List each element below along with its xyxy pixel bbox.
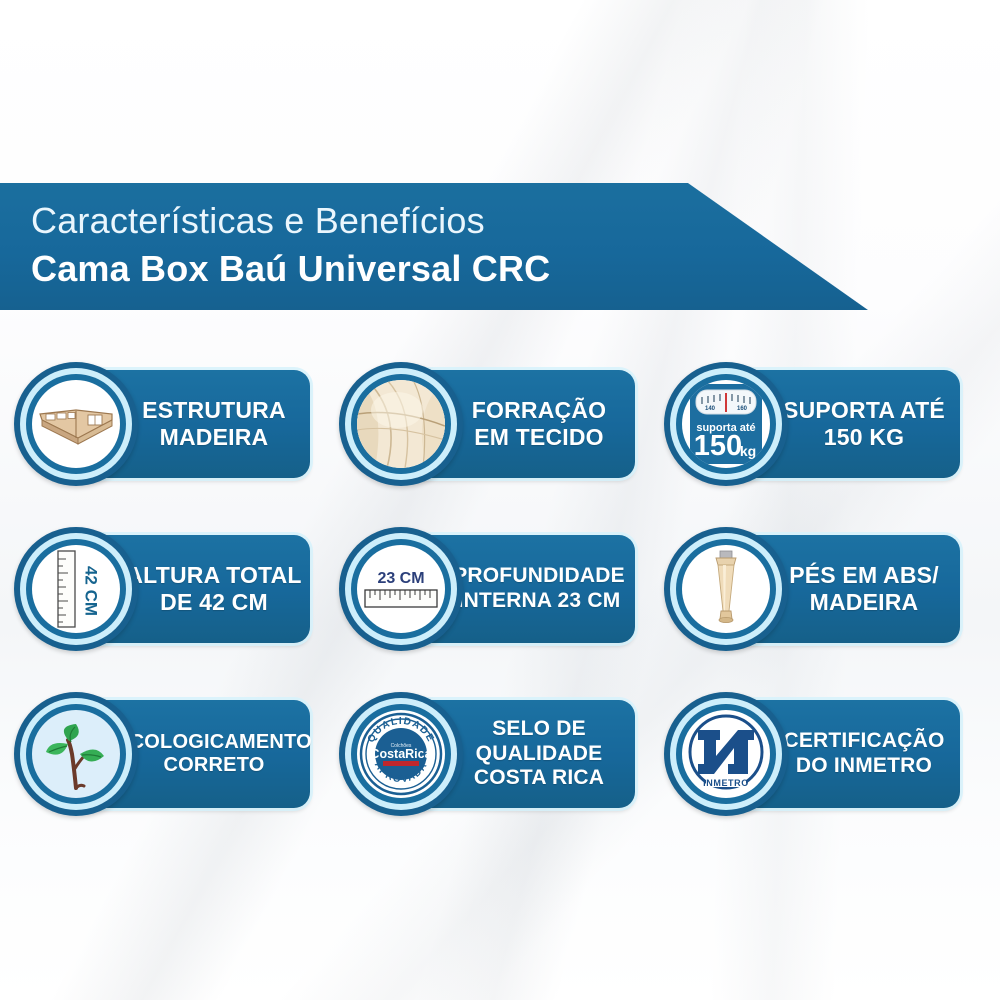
scale-tick-left: 140 bbox=[705, 406, 716, 412]
badge-ring-light: 42 CM bbox=[20, 533, 132, 645]
feature-badge: 42 CM bbox=[14, 527, 138, 651]
feature-badge bbox=[14, 692, 138, 816]
feature-card-label: SUPORTA ATÉ 150 KG bbox=[783, 397, 945, 451]
feature-badge: QUALIDADE APROVADA Colchões CostaRica bbox=[339, 692, 463, 816]
scale-tick-right: 160 bbox=[737, 406, 748, 412]
feature-badge bbox=[664, 527, 788, 651]
badge-ring-light: 140 160 suporta até 150 kg bbox=[670, 368, 782, 480]
wood-frame-icon bbox=[32, 380, 120, 468]
feature-badge: 140 160 suporta até 150 kg bbox=[664, 362, 788, 486]
badge-ring-dark: 23 CM bbox=[351, 539, 451, 639]
ruler-vertical-label: 42 CM bbox=[82, 566, 101, 616]
feature-card-label: CERTIFICAÇÃO DO INMETRO bbox=[783, 729, 944, 779]
ruler-vertical-icon: 42 CM bbox=[32, 545, 120, 633]
feature-card-label: PROFUNDIDADE INTERNA 23 CM bbox=[453, 564, 625, 614]
ruler-horizontal-icon: 23 CM bbox=[357, 545, 445, 633]
feature-card-label: SELO DE QUALIDADE COSTA RICA bbox=[474, 717, 604, 791]
banner-text: Características e Benefícios Cama Box Ba… bbox=[31, 199, 550, 291]
scale-icon: 140 160 suporta até 150 kg bbox=[682, 380, 770, 468]
feature-card-label: PÉS EM ABS/ MADEIRA bbox=[789, 562, 939, 616]
badge-inner-disc bbox=[682, 545, 770, 633]
badge-inner-disc: INMETRO bbox=[682, 710, 770, 798]
feature-card-label: ECOLOGICAMENTO CORRETO bbox=[116, 731, 312, 777]
banner-subtitle: Características e Benefícios bbox=[31, 199, 550, 243]
inmetro-label: INMETRO bbox=[703, 778, 749, 788]
badge-ring-dark: INMETRO bbox=[676, 704, 776, 804]
badge-ring-dark bbox=[351, 374, 451, 474]
badge-ring-light: INMETRO bbox=[670, 698, 782, 810]
feature-row: ALTURA TOTAL DE 42 CM bbox=[0, 527, 1000, 692]
badge-ring-dark bbox=[26, 704, 126, 804]
badge-ring-light bbox=[670, 533, 782, 645]
badge-ring-light: QUALIDADE APROVADA Colchões CostaRica bbox=[345, 698, 457, 810]
badge-ring-dark bbox=[26, 374, 126, 474]
badge-ring-light bbox=[345, 368, 457, 480]
bed-leg-icon bbox=[682, 545, 770, 633]
badge-ring-light bbox=[20, 698, 132, 810]
fabric-icon bbox=[357, 380, 445, 468]
badge-ring-light: 23 CM bbox=[345, 533, 457, 645]
feature-badge: 23 CM bbox=[339, 527, 463, 651]
ruler-horizontal-label: 23 CM bbox=[377, 570, 424, 587]
badge-ring-dark: QUALIDADE APROVADA Colchões CostaRica bbox=[351, 704, 451, 804]
feature-badge bbox=[14, 362, 138, 486]
feature-card-label: FORRAÇÃO EM TECIDO bbox=[472, 397, 606, 451]
badge-ring-light bbox=[20, 368, 132, 480]
badge-inner-disc: 42 CM bbox=[32, 545, 120, 633]
badge-inner-disc: 23 CM bbox=[357, 545, 445, 633]
feature-badge bbox=[339, 362, 463, 486]
feature-card-label: ALTURA TOTAL DE 42 CM bbox=[126, 562, 301, 616]
badge-ring-dark: 140 160 suporta até 150 kg bbox=[676, 374, 776, 474]
feature-row: ECOLOGICAMENTO CORRETO bbox=[0, 692, 1000, 857]
badge-inner-disc: 140 160 suporta até 150 kg bbox=[682, 380, 770, 468]
header-banner: Características e Benefícios Cama Box Ba… bbox=[0, 183, 880, 310]
inmetro-icon: INMETRO bbox=[682, 710, 770, 798]
costa-rica-seal-icon: QUALIDADE APROVADA Colchões CostaRica bbox=[357, 710, 445, 798]
feature-row: ESTRUTURA MADEIRA bbox=[0, 362, 1000, 527]
badge-ring-dark: 42 CM bbox=[26, 539, 126, 639]
badge-inner-disc bbox=[32, 710, 120, 798]
feature-card-label: ESTRUTURA MADEIRA bbox=[142, 397, 286, 451]
scale-value: 150 bbox=[694, 430, 742, 462]
scale-unit: kg bbox=[740, 443, 756, 459]
feature-grid: ESTRUTURA MADEIRA bbox=[0, 362, 1000, 857]
badge-ring-dark bbox=[676, 539, 776, 639]
badge-inner-disc bbox=[32, 380, 120, 468]
feature-badge: INMETRO bbox=[664, 692, 788, 816]
badge-inner-disc bbox=[357, 380, 445, 468]
badge-inner-disc: QUALIDADE APROVADA Colchões CostaRica bbox=[357, 710, 445, 798]
eco-plant-icon bbox=[32, 710, 120, 798]
banner-title: Cama Box Baú Universal CRC bbox=[31, 247, 550, 291]
